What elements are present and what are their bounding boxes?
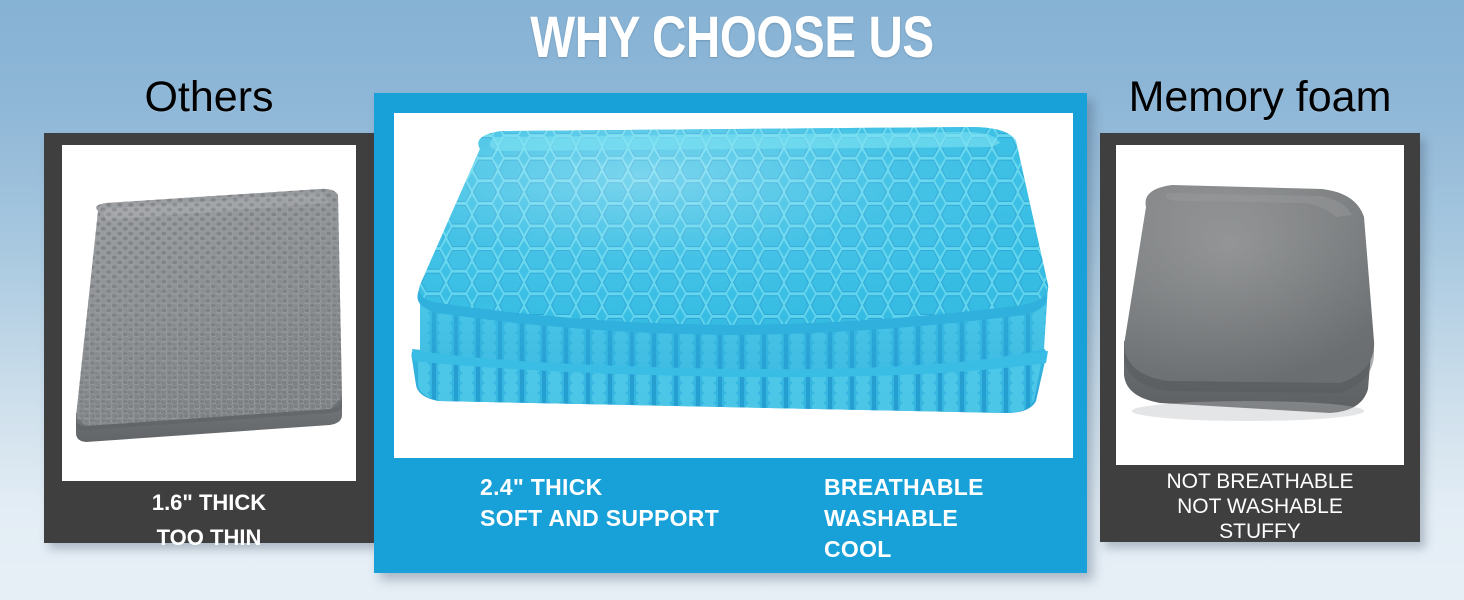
caption-line: STUFFY: [1100, 519, 1420, 544]
feature-item: WASHABLE: [824, 503, 984, 534]
feature-item: BREATHABLE: [824, 472, 984, 503]
captions-others: 1.6" THICK TOO THIN: [44, 485, 374, 555]
feature-list-secondary: BREATHABLE WASHABLE COOL: [824, 472, 984, 565]
feature-list-primary: 2.4" THICK SOFT AND SUPPORT: [480, 472, 719, 534]
memory-foam-illustration: [1116, 145, 1404, 465]
feature-item: COOL: [824, 534, 984, 565]
caption-line: 1.6" THICK: [44, 485, 374, 520]
gel-cushion-illustration: [394, 113, 1073, 458]
product-image-others: [62, 145, 356, 481]
caption-line: TOO THIN: [44, 520, 374, 555]
product-image-memory-foam: [1116, 145, 1404, 465]
page-title: WHY CHOOSE US: [132, 8, 1332, 69]
comparison-card-featured: 2.4" THICK SOFT AND SUPPORT BREATHABLE W…: [374, 93, 1087, 573]
feature-item: 2.4" THICK: [480, 472, 719, 503]
feature-item: SOFT AND SUPPORT: [480, 503, 719, 534]
comparison-card-others: 1.6" THICK TOO THIN: [44, 133, 374, 543]
comparison-card-memory-foam: NOT BREATHABLE NOT WASHABLE STUFFY: [1100, 133, 1420, 542]
egg-crate-foam-illustration: [62, 145, 356, 481]
caption-line: NOT WASHABLE: [1100, 494, 1420, 519]
captions-memory-foam: NOT BREATHABLE NOT WASHABLE STUFFY: [1100, 469, 1420, 544]
column-heading-others: Others: [44, 76, 374, 119]
product-image-gel-cushion: [394, 113, 1073, 458]
infographic-stage: WHY CHOOSE US Others: [0, 0, 1464, 600]
column-heading-memory-foam: Memory foam: [1100, 76, 1420, 119]
caption-line: NOT BREATHABLE: [1100, 469, 1420, 494]
